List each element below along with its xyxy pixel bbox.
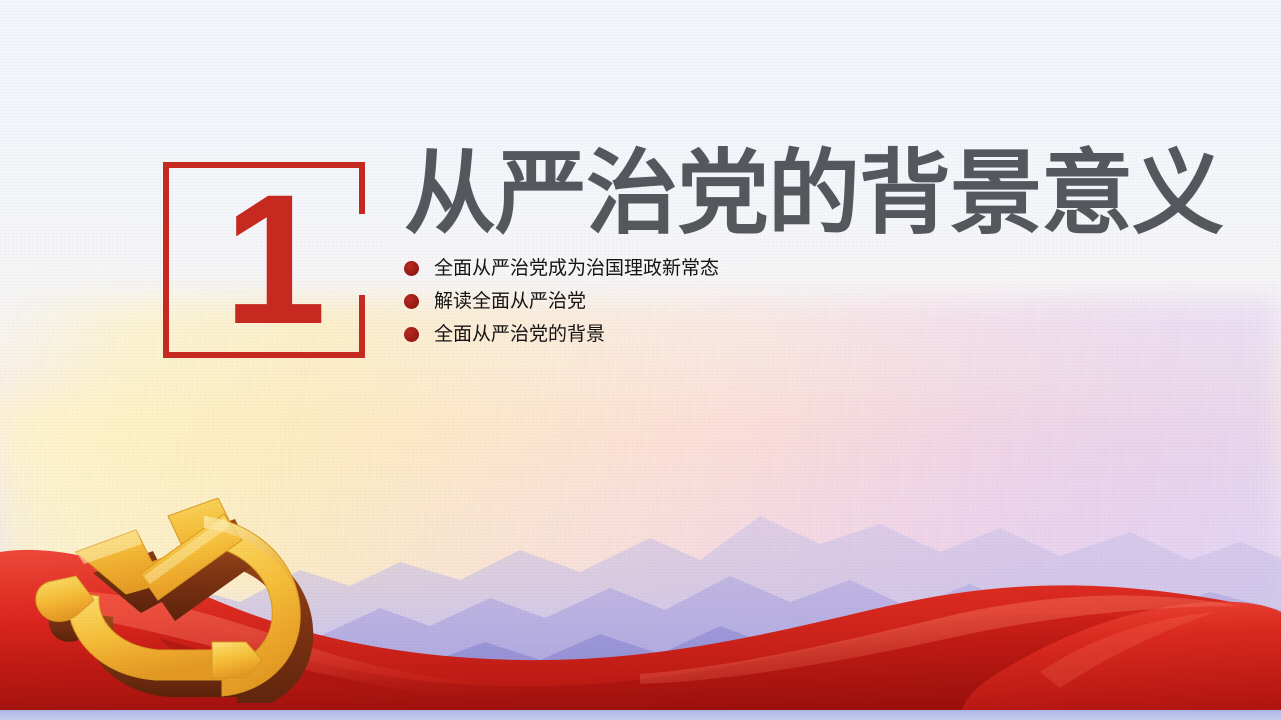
list-item: 全面从严治党成为治国理政新常态 <box>404 252 719 285</box>
presentation-slide: 1 从严治党的背景意义 全面从严治党成为治国理政新常态 解读全面从严治党 全面从… <box>0 0 1281 720</box>
slide-title: 从严治党的背景意义 <box>404 148 1223 240</box>
bullet-dot-icon <box>404 294 419 309</box>
list-item-label: 解读全面从严治党 <box>434 292 586 311</box>
list-item: 解读全面从严治党 <box>404 285 719 318</box>
section-number: 1 <box>163 162 365 358</box>
bullet-dot-icon <box>404 327 419 342</box>
section-number-frame: 1 <box>163 162 365 358</box>
paper-texture-overlay <box>0 0 1281 720</box>
list-item-label: 全面从严治党成为治国理政新常态 <box>434 259 719 278</box>
list-item-label: 全面从严治党的背景 <box>434 325 605 344</box>
list-item: 全面从严治党的背景 <box>404 318 719 351</box>
bullet-dot-icon <box>404 261 419 276</box>
bullet-list: 全面从严治党成为治国理政新常态 解读全面从严治党 全面从严治党的背景 <box>404 252 719 351</box>
